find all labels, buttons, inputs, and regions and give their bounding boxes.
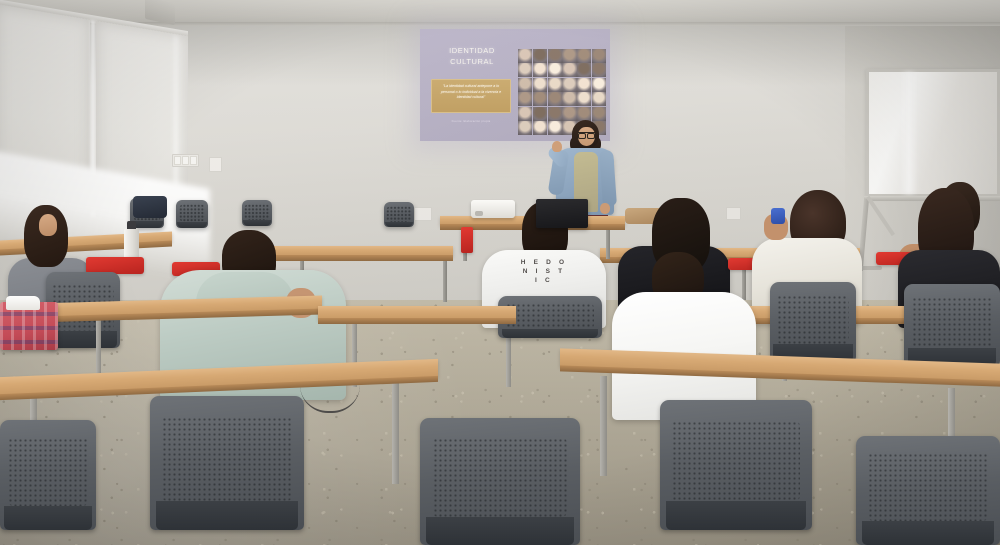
desk-leg bbox=[606, 225, 610, 259]
collage-face-tile bbox=[518, 78, 532, 92]
collage-face-tile bbox=[518, 49, 532, 63]
collage-face-tile bbox=[518, 121, 532, 135]
slide-quote: "La identidad cultural antepone a lo per… bbox=[431, 79, 511, 113]
power-outlet-icon bbox=[726, 207, 741, 220]
collage-face-tile bbox=[562, 92, 576, 106]
collage-face-tile bbox=[518, 63, 532, 77]
chair bbox=[660, 400, 812, 530]
collage-face-tile bbox=[518, 107, 532, 121]
power-outlet-icon bbox=[209, 157, 222, 172]
red-marker bbox=[461, 227, 473, 253]
collage-face-tile bbox=[533, 49, 547, 63]
collage-face-tile bbox=[518, 92, 532, 106]
shirt-text-line2: N I S T bbox=[482, 267, 606, 276]
shirt-text-line3: I C bbox=[482, 276, 606, 285]
chair bbox=[242, 200, 272, 226]
backpack bbox=[133, 196, 167, 218]
collage-face-tile bbox=[533, 63, 547, 77]
collage-face-tile bbox=[548, 78, 562, 92]
slide-credit: Fuente: Elaboración propia bbox=[434, 119, 508, 123]
chair bbox=[770, 282, 856, 362]
collage-face-tile bbox=[562, 78, 576, 92]
eyeglasses-icon bbox=[578, 132, 595, 137]
desk-row bbox=[318, 306, 516, 319]
blue-water-bottle bbox=[771, 208, 785, 224]
chair bbox=[856, 436, 1000, 545]
collage-face-tile bbox=[548, 107, 562, 121]
collage-face-tile bbox=[592, 63, 606, 77]
collage-face-tile bbox=[577, 49, 591, 63]
light-switch-icon[interactable] bbox=[172, 154, 199, 167]
presenter-right-hand bbox=[600, 203, 610, 214]
collage-face-tile bbox=[577, 107, 591, 121]
chair bbox=[420, 418, 580, 545]
collage-face-tile bbox=[562, 107, 576, 121]
chair bbox=[384, 202, 414, 227]
slide-title: IDENTIDAD CULTURAL bbox=[436, 45, 508, 67]
desk-leg bbox=[392, 380, 399, 484]
chair bbox=[0, 420, 96, 530]
collage-face-tile bbox=[533, 92, 547, 106]
collage-face-tile bbox=[592, 107, 606, 121]
collage-face-tile bbox=[562, 63, 576, 77]
desk-row bbox=[268, 246, 453, 256]
collage-face-tile bbox=[592, 49, 606, 63]
collage-face-tile bbox=[577, 78, 591, 92]
collage-face-tile bbox=[592, 92, 606, 106]
collage-face-tile bbox=[548, 63, 562, 77]
collage-face-tile bbox=[577, 63, 591, 77]
power-outlet-icon bbox=[414, 207, 432, 221]
collage-face-tile bbox=[533, 107, 547, 121]
chair bbox=[176, 200, 208, 228]
whiteboard-surface bbox=[869, 72, 997, 194]
collage-face-tile bbox=[548, 49, 562, 63]
slide-title-line2: CULTURAL bbox=[436, 56, 508, 67]
whiteboard bbox=[866, 69, 1000, 197]
desk-leg bbox=[600, 376, 607, 476]
classroom-photo: IDENTIDAD CULTURAL "La identidad cultura… bbox=[0, 0, 1000, 545]
collage-face-tile bbox=[562, 49, 576, 63]
tissue-box bbox=[6, 296, 40, 310]
slide-title-line1: IDENTIDAD bbox=[436, 45, 508, 56]
desk-leg bbox=[443, 256, 447, 302]
presenter-gesturing-hand bbox=[552, 141, 562, 152]
collage-face-tile bbox=[592, 78, 606, 92]
laptop bbox=[536, 199, 588, 228]
shirt-text-line1: H E D O bbox=[482, 258, 606, 267]
shirt-graphic: H E D O N I S T I C bbox=[482, 258, 606, 285]
collage-face-tile bbox=[533, 121, 547, 135]
collage-face-tile bbox=[577, 92, 591, 106]
collage-face-tile bbox=[548, 92, 562, 106]
collage-face-tile bbox=[533, 78, 547, 92]
projector-device bbox=[471, 200, 515, 218]
collage-face-tile bbox=[548, 121, 562, 135]
chair bbox=[904, 284, 1000, 366]
chair bbox=[150, 396, 304, 530]
